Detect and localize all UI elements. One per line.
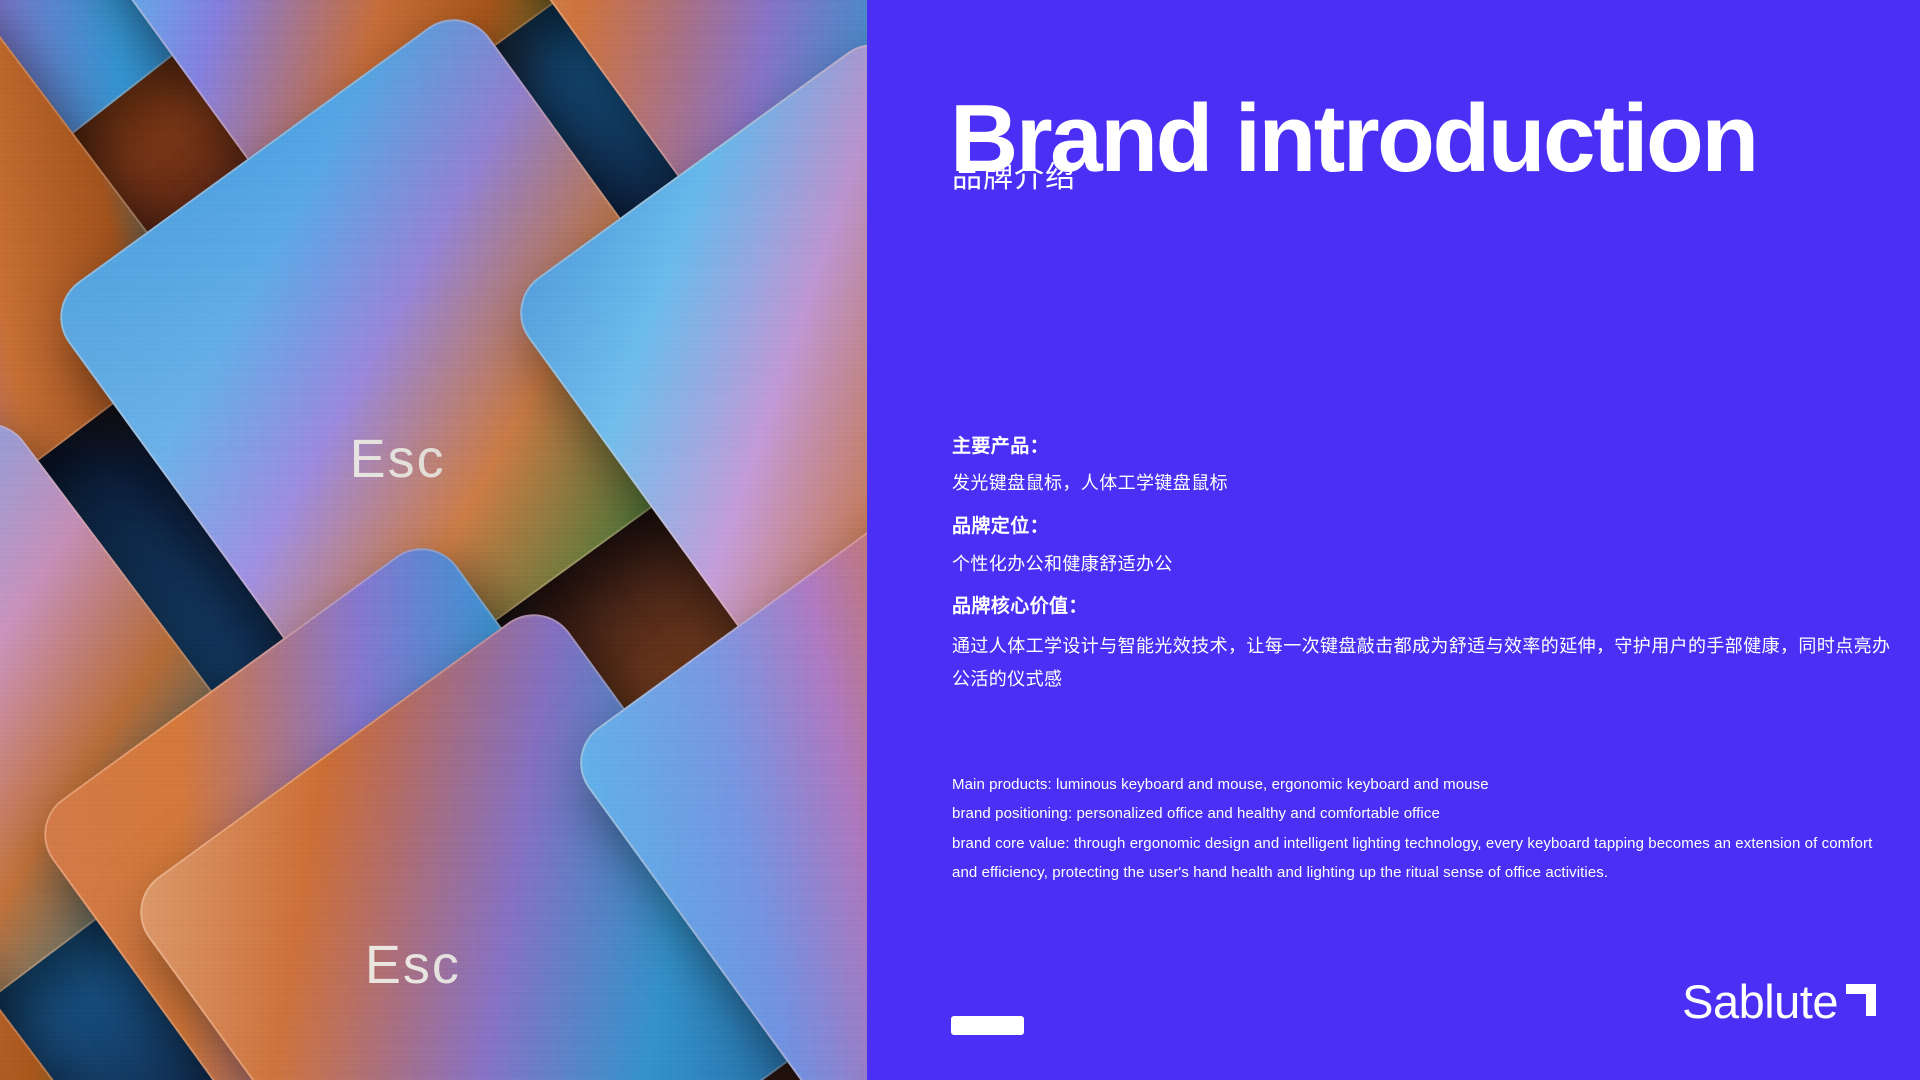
chinese-content-block: 主要产品： 发光键盘鼠标，人体工学键盘鼠标 品牌定位： 个性化办公和健康舒适办公… — [952, 432, 1892, 697]
english-positioning-line: brand positioning: personalized office a… — [952, 799, 1892, 828]
page-subtitle: 品牌介绍 — [952, 152, 1076, 196]
page-title: Brand introduction — [950, 91, 1876, 187]
logo-wordmark: Sablute — [1682, 978, 1838, 1025]
positioning-heading: 品牌定位： — [952, 512, 1892, 541]
core-value-text: 通过人体工学设计与智能光效技术，让每一次键盘敲击都成为舒适与效率的延伸，守护用户… — [952, 630, 1892, 697]
english-products-line: Main products: luminous keyboard and mou… — [952, 770, 1892, 799]
positioning-text: 个性化办公和健康舒适办公 — [952, 550, 1892, 579]
photo-vignette — [0, 0, 867, 1080]
products-heading: 主要产品： — [952, 432, 1892, 461]
products-text: 发光键盘鼠标，人体工学键盘鼠标 — [952, 469, 1892, 498]
core-value-heading: 品牌核心价值： — [952, 592, 1892, 621]
corner-flag-icon — [1844, 982, 1878, 1018]
brand-introduction-slide: Esc Esc Esc — [0, 0, 1920, 1080]
slide-progress-indicator[interactable] — [951, 1016, 1024, 1035]
sablute-logo: Sablute — [1682, 978, 1878, 1025]
english-content-block: Main products: luminous keyboard and mou… — [952, 770, 1892, 887]
english-core-value-line: brand core value: through ergonomic desi… — [952, 829, 1892, 888]
photo-inner: Esc Esc Esc — [0, 0, 867, 1080]
keyboard-photo: Esc Esc Esc — [0, 0, 867, 1080]
content-panel: Brand introduction 品牌介绍 主要产品： 发光键盘鼠标，人体工… — [867, 0, 1920, 1080]
